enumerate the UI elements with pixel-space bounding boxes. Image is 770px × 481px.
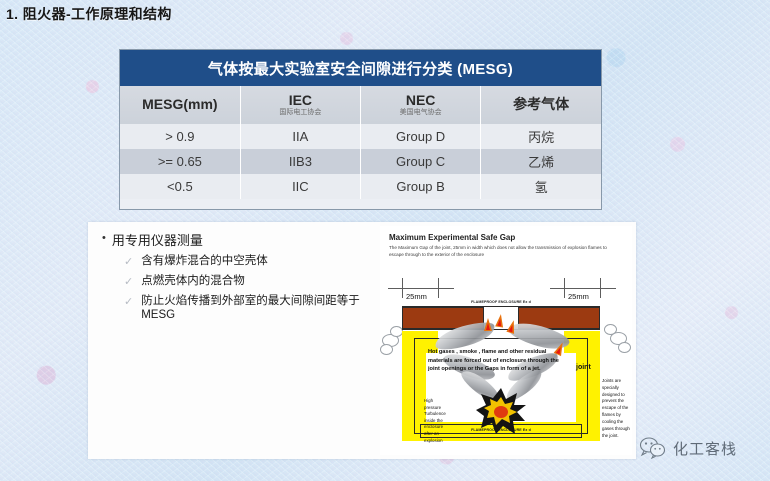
table-row: >= 0.65 IIB3 Group C 乙烯 bbox=[120, 149, 601, 174]
table-title: 气体按最大实验室安全间隙进行分类 (MESG) bbox=[120, 50, 601, 86]
check-icon: ✓ bbox=[124, 254, 133, 270]
table-header-row: MESG(mm) IEC 国际电工协会 NEC 美国电气协会 参考气体 bbox=[120, 86, 601, 124]
header-sublabel-nec: 美国电气协会 bbox=[361, 108, 480, 117]
smoke-cloud-icon bbox=[604, 324, 617, 335]
table-header-nec: NEC 美国电气协会 bbox=[361, 86, 481, 124]
bullet-dot-icon: • bbox=[102, 230, 106, 246]
header-label-gas: 参考气体 bbox=[481, 97, 601, 112]
cell-gas: 丙烷 bbox=[481, 124, 601, 149]
smoke-cloud-icon bbox=[380, 344, 393, 355]
cell-iec: IIB3 bbox=[240, 149, 360, 174]
diagram-subtitle: The Maximum Gap of the joint, 25mm in wi… bbox=[389, 245, 621, 258]
diagram-title: Maximum Experimental Safe Gap bbox=[389, 233, 515, 242]
table-header-mesg: MESG(mm) bbox=[120, 86, 240, 124]
bullet-main-label: 用专用仪器测量 bbox=[112, 230, 203, 249]
mesg-table: 气体按最大实验室安全间隙进行分类 (MESG) MESG(mm) IEC 国际电… bbox=[120, 50, 601, 199]
cell-mesg: > 0.9 bbox=[120, 124, 240, 149]
wechat-icon bbox=[640, 437, 666, 459]
list-item-label: 防止火焰传播到外部室的最大间隙间距等于MESG bbox=[141, 294, 374, 323]
table-title-row: 气体按最大实验室安全间隙进行分类 (MESG) bbox=[120, 50, 601, 86]
table-row: > 0.9 IIA Group D 丙烷 bbox=[120, 124, 601, 149]
explosion-burst-icon bbox=[476, 388, 526, 434]
list-item: ✓ 防止火焰传播到外部室的最大间隙间距等于MESG bbox=[124, 294, 374, 323]
list-item: ✓ 含有爆炸混合的中空壳体 bbox=[124, 254, 374, 270]
smoke-cloud-icon bbox=[618, 342, 631, 353]
enclosure-label-top: FLAMEPROOF ENCLOSURE Ex d bbox=[442, 300, 560, 304]
list-item-label: 含有爆炸混合的中空壳体 bbox=[141, 254, 268, 268]
table-header-gas: 参考气体 bbox=[481, 86, 601, 124]
turbulence-annotation: High pressure Turbulence inside the encl… bbox=[424, 398, 450, 444]
bullet-sublist: ✓ 含有爆炸混合的中空壳体 ✓ 点燃壳体内的混合物 ✓ 防止火焰传播到外部室的最… bbox=[124, 254, 374, 323]
cell-mesg: <0.5 bbox=[120, 174, 240, 199]
list-item: ✓ 点燃壳体内的混合物 bbox=[124, 274, 374, 290]
header-label-mesg: MESG(mm) bbox=[120, 97, 240, 112]
cell-nec: Group B bbox=[361, 174, 481, 199]
content-panel: • 用专用仪器测量 ✓ 含有爆炸混合的中空壳体 ✓ 点燃壳体内的混合物 ✓ 防止… bbox=[88, 222, 636, 459]
header-label-iec: IEC bbox=[241, 93, 360, 108]
check-icon: ✓ bbox=[124, 294, 133, 310]
table-header-iec: IEC 国际电工协会 bbox=[240, 86, 360, 124]
measure-line bbox=[550, 288, 616, 289]
cell-nec: Group C bbox=[361, 149, 481, 174]
header-label-nec: NEC bbox=[361, 93, 480, 108]
page-title: 1. 阻火器-工作原理和结构 bbox=[6, 4, 172, 24]
bullet-list: • 用专用仪器测量 ✓ 含有爆炸混合的中空壳体 ✓ 点燃壳体内的混合物 ✓ 防止… bbox=[102, 230, 374, 327]
check-icon: ✓ bbox=[124, 274, 133, 290]
gap-label-right: 25mm bbox=[568, 292, 589, 301]
cell-nec: Group D bbox=[361, 124, 481, 149]
flameproof-enclosure-diagram: Maximum Experimental Safe Gap The Maximu… bbox=[380, 226, 632, 455]
gap-label-left: 25mm bbox=[406, 292, 427, 301]
joint-annotation: Joints are specially designed to prevent… bbox=[602, 378, 630, 439]
cell-gas: 氢 bbox=[481, 174, 601, 199]
mesg-table-card: 气体按最大实验室安全间隙进行分类 (MESG) MESG(mm) IEC 国际电… bbox=[119, 49, 602, 210]
measure-line bbox=[388, 288, 454, 289]
table-row: <0.5 IIC Group B 氢 bbox=[120, 174, 601, 199]
watermark: 化工客栈 bbox=[640, 437, 737, 459]
list-item-label: 点燃壳体内的混合物 bbox=[141, 274, 245, 288]
cell-iec: IIA bbox=[240, 124, 360, 149]
header-sublabel-iec: 国际电工协会 bbox=[241, 108, 360, 117]
center-annotation: Hot gases , smoke , flame and other resi… bbox=[428, 348, 566, 374]
cell-gas: 乙烯 bbox=[481, 149, 601, 174]
cell-iec: IIC bbox=[240, 174, 360, 199]
joint-label: joint bbox=[576, 364, 591, 371]
bullet-main: • 用专用仪器测量 bbox=[102, 230, 374, 249]
watermark-label: 化工客栈 bbox=[673, 438, 737, 459]
cell-mesg: >= 0.65 bbox=[120, 149, 240, 174]
flame-icon bbox=[484, 318, 492, 331]
